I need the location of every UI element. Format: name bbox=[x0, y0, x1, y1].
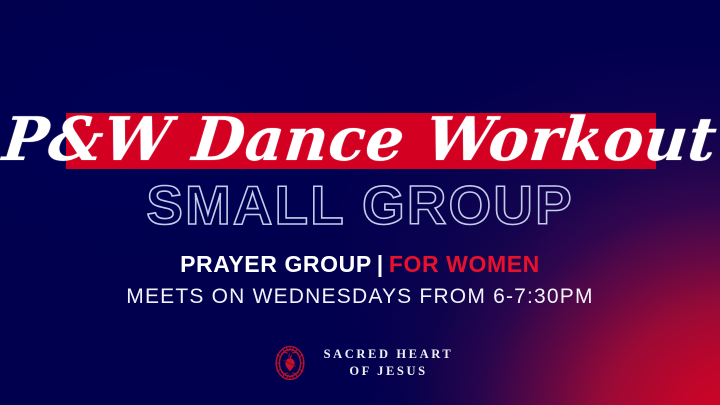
logo-line-1: SACRED HEART bbox=[324, 346, 454, 363]
script-title: P&W Dance Workout bbox=[0, 94, 720, 186]
logo-line-2: OF JESUS bbox=[349, 363, 427, 380]
subtitle-separator: | bbox=[372, 251, 389, 277]
logo-lockup: SACRED HEART OF JESUS bbox=[0, 340, 720, 386]
outline-headline: SMALL GROUP bbox=[0, 178, 720, 233]
subtitle-accent: FOR WOMEN bbox=[389, 251, 540, 277]
schedule-line: MEETS ON WEDNESDAYS FROM 6-7:30PM bbox=[0, 285, 720, 308]
event-flyer: P&W Dance Workout SMALL GROUP PRAYER GRO… bbox=[0, 0, 720, 405]
subtitle-line: PRAYER GROUP|FOR WOMEN bbox=[0, 252, 720, 277]
subtitle-primary: PRAYER GROUP bbox=[180, 251, 372, 277]
logo-wordmark: SACRED HEART OF JESUS bbox=[324, 346, 454, 380]
sacred-heart-crown-of-thorns-icon bbox=[267, 340, 313, 386]
